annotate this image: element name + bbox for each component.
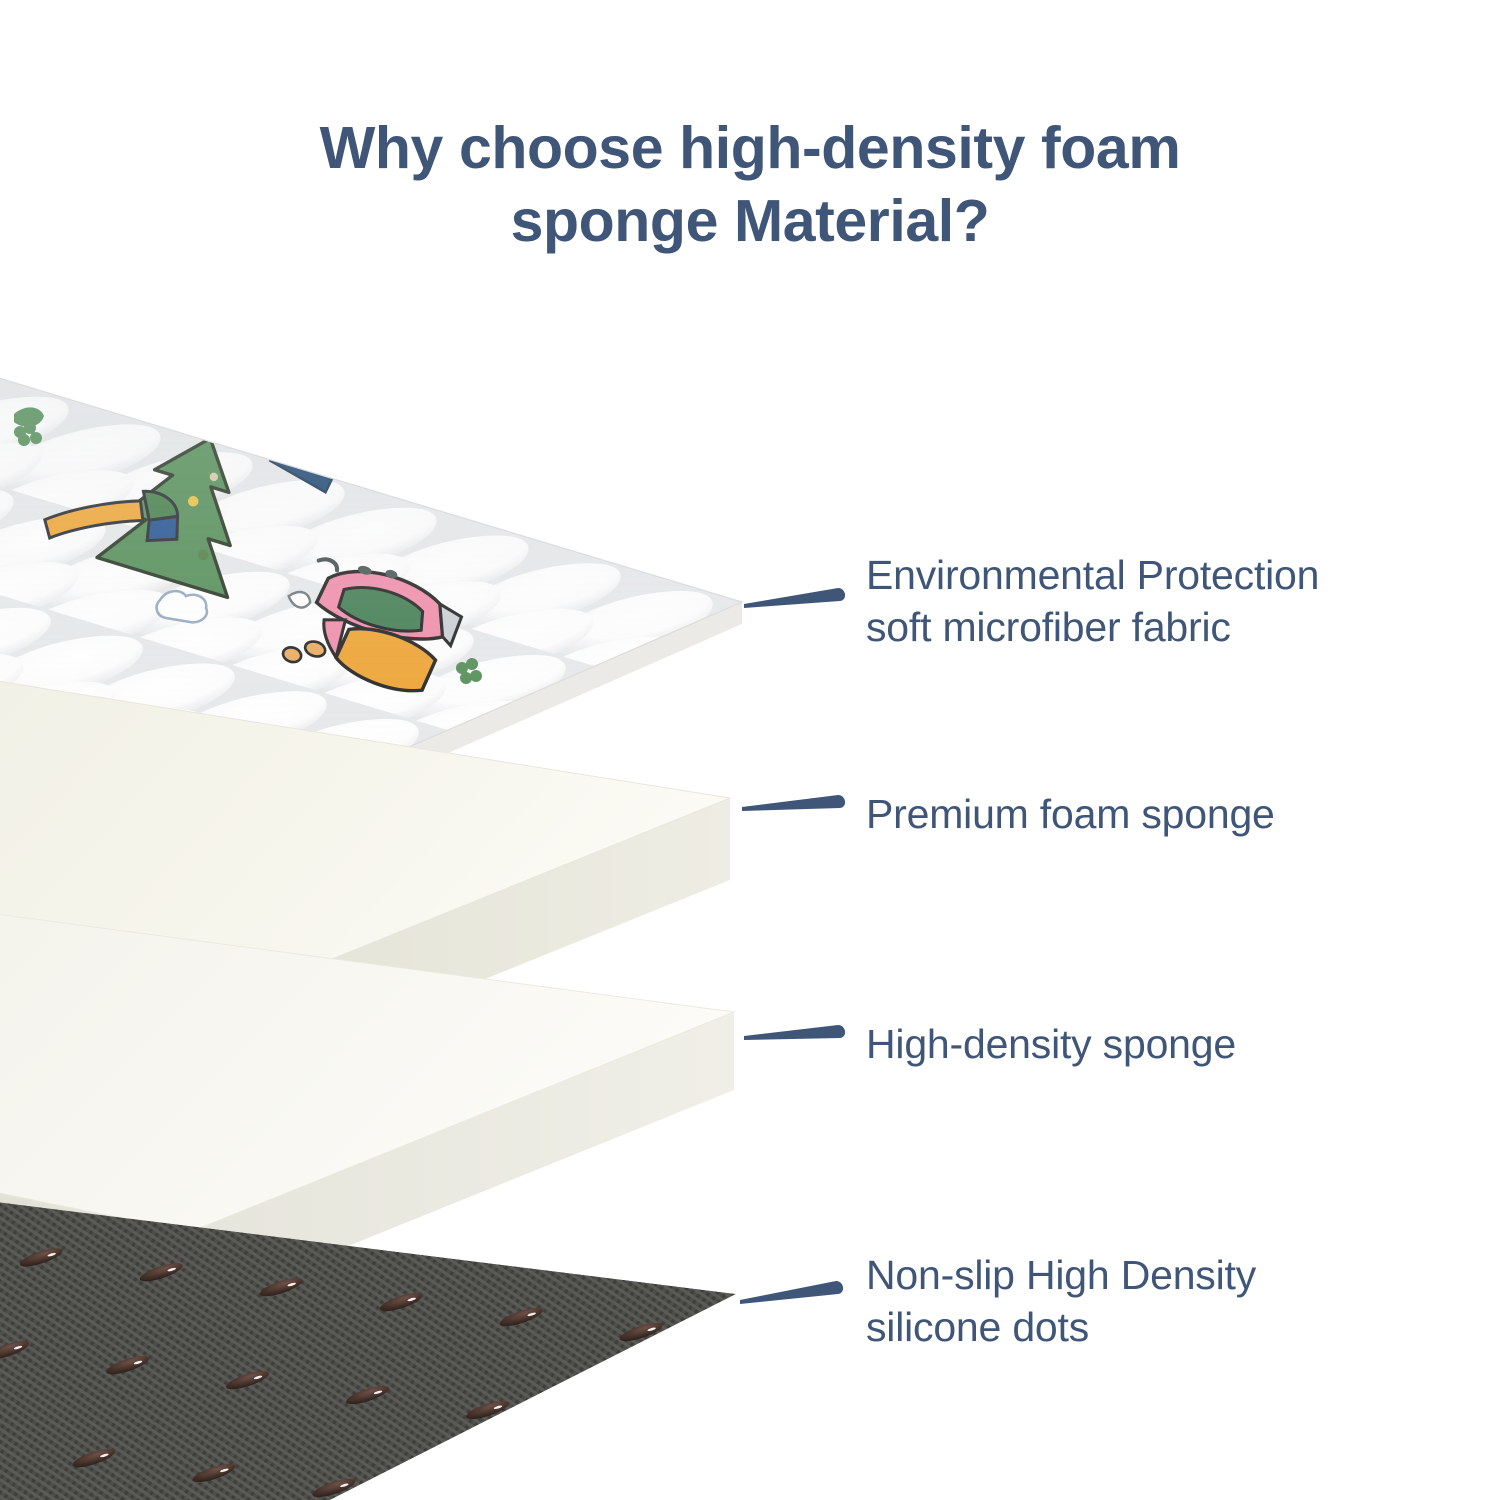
callout-label-premium-foam: Premium foam sponge <box>866 788 1275 840</box>
pointer-microfiber <box>744 588 845 608</box>
pointer-premium-foam <box>742 795 845 811</box>
infographic-page: Why choose high-density foam sponge Mate… <box>0 0 1500 1500</box>
pointer-high-density <box>744 1025 845 1040</box>
callout-label-microfiber: Environmental Protection soft microfiber… <box>866 549 1319 654</box>
layer-diagram <box>0 0 1500 1500</box>
pointer-silicone <box>740 1281 843 1304</box>
callout-label-silicone: Non-slip High Density silicone dots <box>866 1249 1256 1354</box>
callout-label-high-density: High-density sponge <box>866 1018 1236 1070</box>
callout-pointers <box>740 588 845 1304</box>
